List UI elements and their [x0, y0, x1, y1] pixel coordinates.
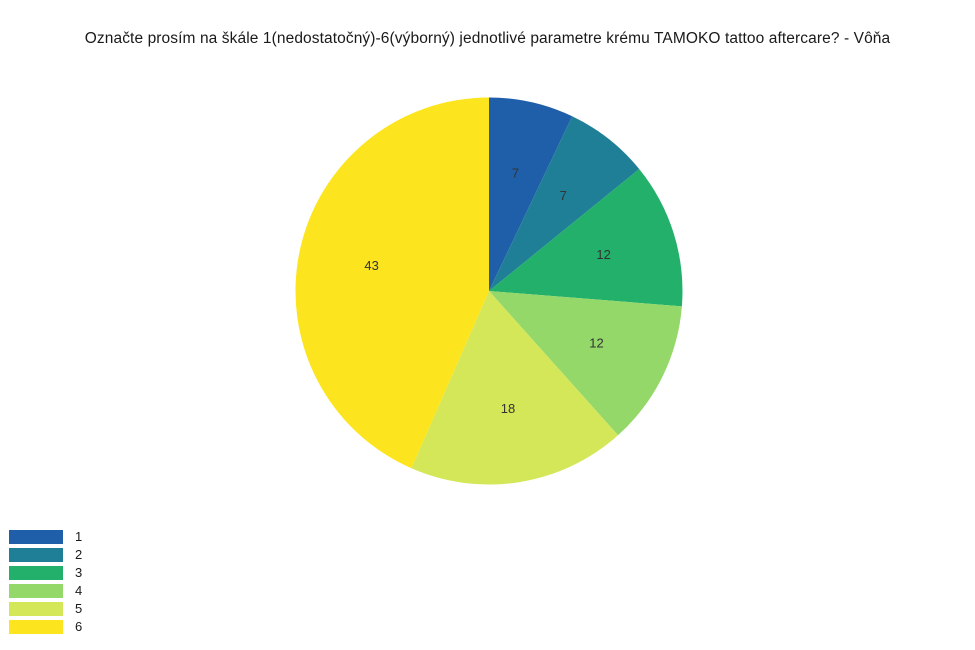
legend-item-3[interactable]: 3	[9, 564, 129, 582]
pie-plot-area: 7712121843	[295, 97, 683, 485]
legend-item-1[interactable]: 1	[9, 528, 129, 546]
legend-label-1: 1	[75, 530, 82, 544]
chart-title: Označte prosím na škále 1(nedostatočný)-…	[0, 28, 975, 50]
legend-swatch-4	[9, 584, 63, 598]
legend-label-6: 6	[75, 620, 82, 634]
legend-label-2: 2	[75, 548, 82, 562]
pie-slice-label-3: 12	[596, 247, 610, 262]
pie-slices-group	[295, 98, 682, 485]
legend-item-4[interactable]: 4	[9, 582, 129, 600]
legend-item-6[interactable]: 6	[9, 618, 129, 636]
pie-slice-label-5: 18	[501, 401, 515, 416]
pie-chart-figure: Označte prosím na škále 1(nedostatočný)-…	[0, 0, 975, 650]
legend-swatch-6	[9, 620, 63, 634]
legend-label-4: 4	[75, 584, 82, 598]
legend-label-3: 3	[75, 566, 82, 580]
chart-legend: 123456	[9, 528, 129, 636]
legend-item-2[interactable]: 2	[9, 546, 129, 564]
pie-svg: 7712121843	[295, 97, 683, 485]
legend-swatch-1	[9, 530, 63, 544]
legend-swatch-5	[9, 602, 63, 616]
legend-swatch-3	[9, 566, 63, 580]
legend-label-5: 5	[75, 602, 82, 616]
legend-item-5[interactable]: 5	[9, 600, 129, 618]
legend-swatch-2	[9, 548, 63, 562]
pie-slice-label-2: 7	[560, 188, 567, 203]
pie-slice-label-6: 43	[364, 258, 378, 273]
pie-slice-label-4: 12	[589, 336, 603, 351]
pie-slice-label-1: 7	[512, 165, 519, 180]
